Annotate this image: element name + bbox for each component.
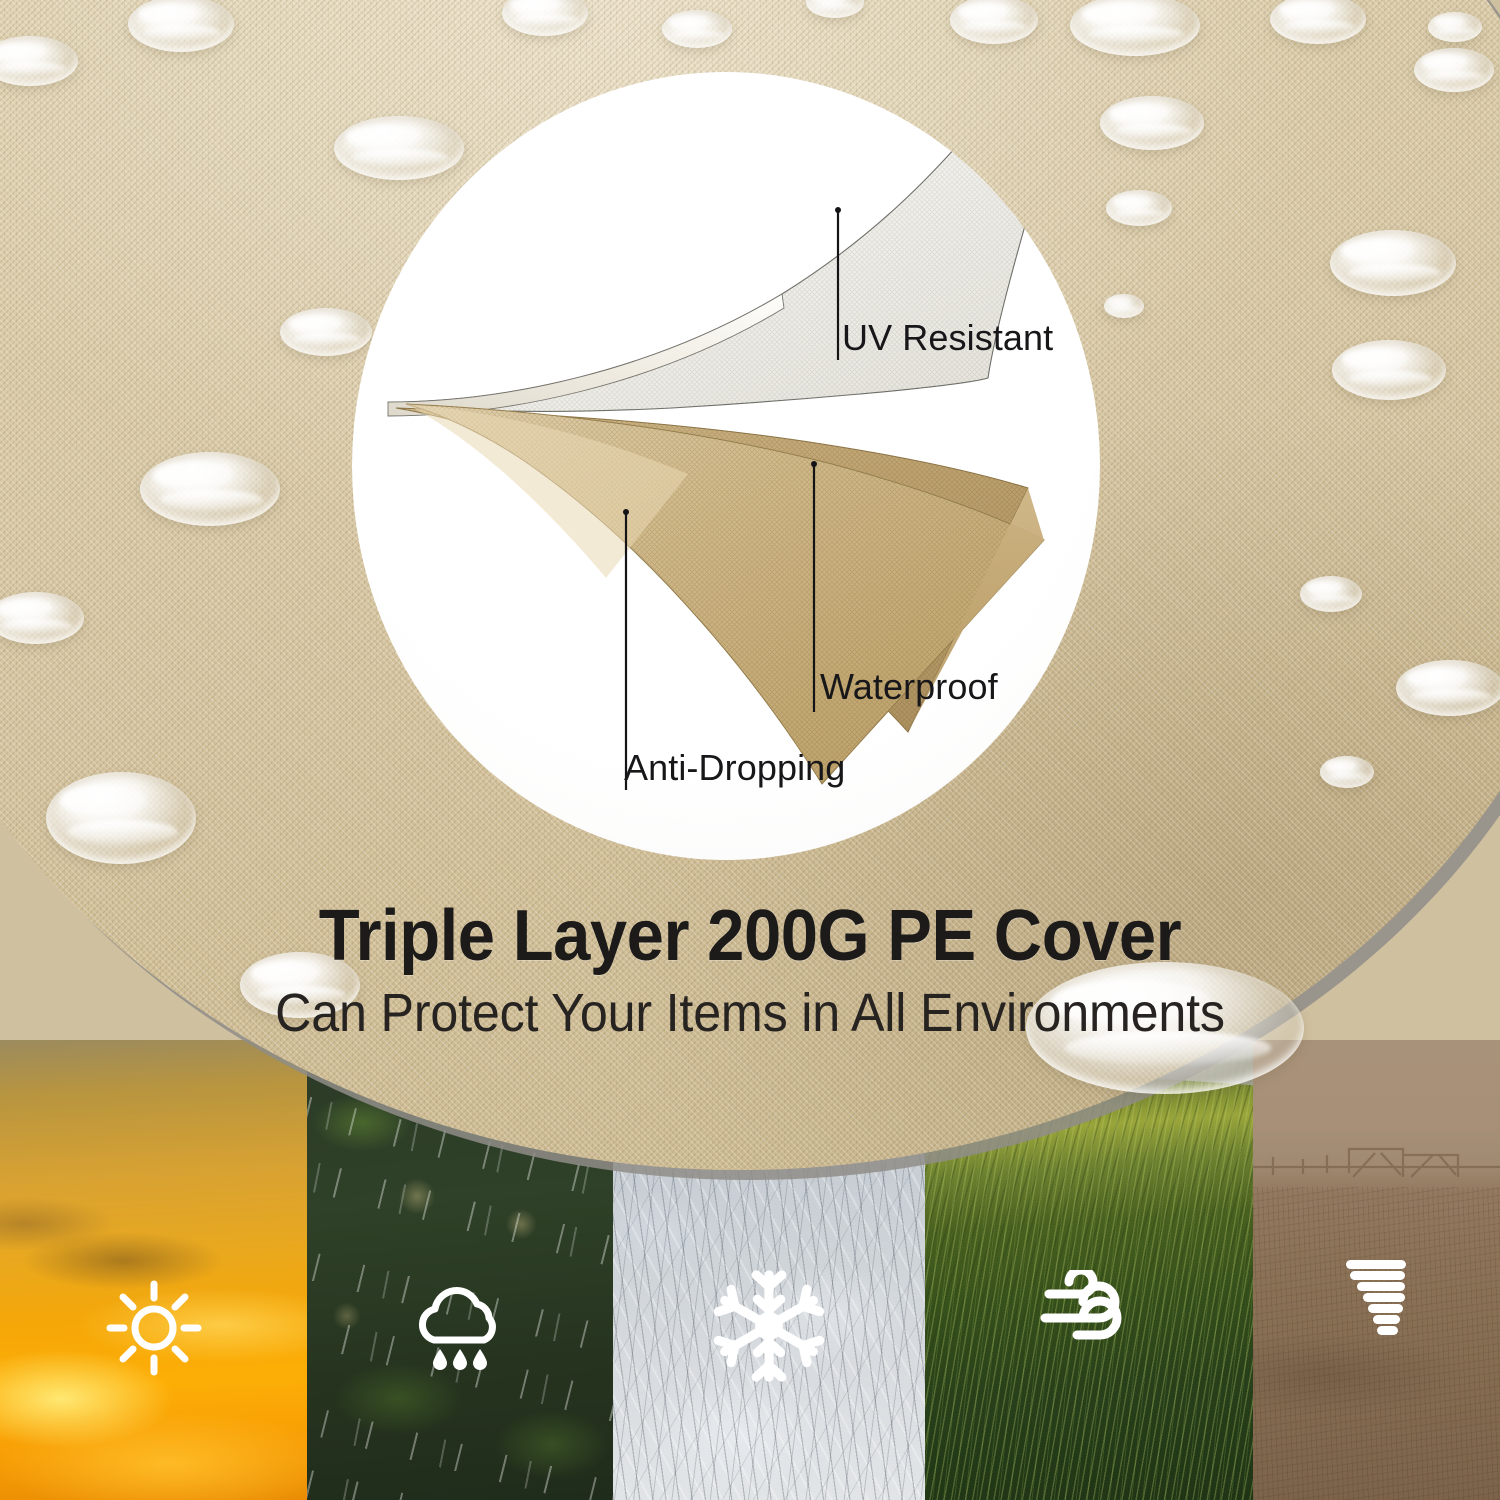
page-subtitle: Can Protect Your Items in All Environmen…: [53, 986, 1448, 1040]
dust-ground-grain: [1253, 1187, 1500, 1500]
water-droplet: [46, 772, 196, 864]
dust-storm-icon: [1344, 1258, 1410, 1341]
water-droplet: [1396, 660, 1500, 716]
product-infographic: UV Resistant Waterproof Anti-Dropping Tr…: [0, 0, 1500, 1500]
page-title: Triple Layer 200G PE Cover: [53, 900, 1448, 972]
snowflake-icon: [711, 1268, 827, 1389]
label-uv-resistant: UV Resistant: [842, 317, 1053, 359]
water-droplet: [140, 452, 280, 526]
water-droplet: [662, 10, 732, 48]
water-droplet: [1428, 12, 1482, 42]
water-droplet: [1100, 96, 1204, 150]
rain-cloud-icon: [406, 1278, 514, 1383]
water-droplet: [1332, 340, 1446, 400]
material-layers-inset: UV Resistant Waterproof Anti-Dropping: [352, 72, 1100, 860]
water-droplet: [1414, 48, 1494, 92]
label-anti-dropping: Anti-Dropping: [624, 747, 845, 789]
water-droplet: [1106, 190, 1172, 226]
sun-icon: [104, 1278, 204, 1383]
wind-icon: [1037, 1270, 1141, 1365]
water-droplet: [1330, 230, 1456, 296]
layered-fabric-diagram: [352, 72, 1100, 860]
label-waterproof: Waterproof: [820, 666, 998, 708]
headline-block: Triple Layer 200G PE Cover Can Protect Y…: [0, 900, 1500, 1040]
water-droplet: [1300, 576, 1362, 612]
water-droplet: [1320, 756, 1374, 788]
water-droplet: [1104, 294, 1144, 318]
